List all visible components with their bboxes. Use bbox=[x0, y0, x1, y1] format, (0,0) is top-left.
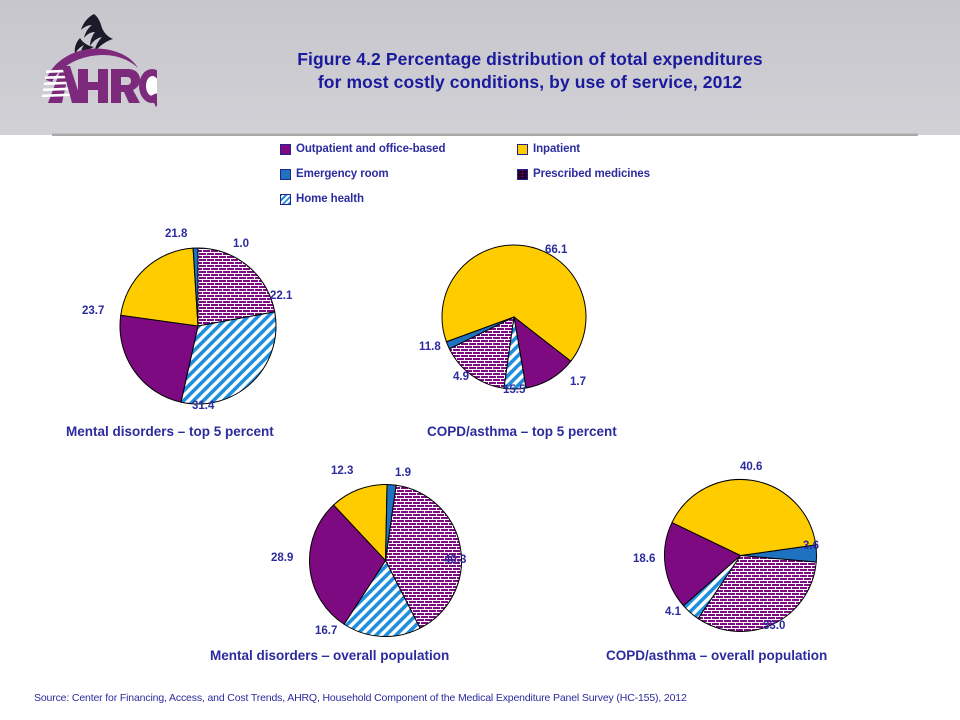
pie-chart-copd-asthma-overall bbox=[663, 478, 818, 633]
pie-0-value-label-2: 23.7 bbox=[82, 305, 104, 317]
pie-2-value-label-4: 1.9 bbox=[395, 467, 411, 479]
legend-label-inpatient: Inpatient bbox=[533, 143, 580, 155]
pie-3-value-label-4: 40.6 bbox=[740, 461, 762, 473]
pie-2-value-label-2: 28.9 bbox=[271, 552, 293, 564]
legend-label-outpatient: Outpatient and office-based bbox=[296, 143, 445, 155]
legend-item-prescribed[interactable]: Prescribed medicines bbox=[517, 168, 650, 180]
page-title: Figure 4.2 Percentage distribution of to… bbox=[180, 48, 880, 95]
pie-0-value-label-0: 22.1 bbox=[270, 290, 292, 302]
slide-background: Figure 4.2 Percentage distribution of to… bbox=[0, 0, 960, 720]
page-title-line-2: for most costly conditions, by use of se… bbox=[180, 71, 880, 94]
pie-0-value-label-1: 31.4 bbox=[192, 400, 214, 412]
pie-chart-copd-asthma-top5 bbox=[440, 243, 588, 391]
legend-item-emergency[interactable]: Emergency room bbox=[280, 168, 389, 180]
pie-1-svg bbox=[440, 243, 588, 391]
legend-label-home_health: Home health bbox=[296, 193, 364, 205]
pie-1-value-label-4: 4.9 bbox=[453, 371, 469, 383]
pie-2-value-label-3: 12.3 bbox=[331, 465, 353, 477]
chart-legend: Outpatient and office-basedInpatientEmer… bbox=[280, 143, 700, 215]
pie-3-value-label-3: 18.6 bbox=[633, 553, 655, 565]
source-note: Source: Center for Financing, Access, an… bbox=[34, 692, 687, 704]
pie-caption-1: COPD/asthma – top 5 percent bbox=[427, 424, 617, 439]
pie-3-value-label-2: 4.1 bbox=[665, 606, 681, 618]
pie-chart-mental-disorders-top5 bbox=[118, 246, 278, 406]
pie-2-value-label-0: 40.3 bbox=[444, 554, 466, 566]
pie-3-value-label-0: 3.6 bbox=[803, 540, 819, 552]
legend-label-prescribed: Prescribed medicines bbox=[533, 168, 650, 180]
pie-2-svg bbox=[308, 483, 463, 638]
pie-1-value-label-3: 11.8 bbox=[419, 341, 441, 353]
pie-0-slice-3[interactable] bbox=[121, 248, 198, 326]
legend-item-home_health[interactable]: Home health bbox=[280, 193, 364, 205]
pie-1-value-label-0: 15.5 bbox=[503, 384, 525, 396]
pie-caption-0: Mental disorders – top 5 percent bbox=[66, 424, 274, 439]
legend-swatch-home_health-icon bbox=[280, 194, 291, 205]
pie-1-value-label-2: 66.1 bbox=[545, 244, 567, 256]
legend-swatch-inpatient-icon bbox=[517, 144, 528, 155]
legend-swatch-outpatient-icon bbox=[280, 144, 291, 155]
legend-label-emergency: Emergency room bbox=[296, 168, 389, 180]
pie-chart-mental-disorders-overall bbox=[308, 483, 463, 638]
header-divider bbox=[52, 133, 918, 136]
pie-2-value-label-1: 16.7 bbox=[315, 625, 337, 637]
pie-caption-3: COPD/asthma – overall population bbox=[606, 648, 827, 663]
pie-3-svg bbox=[663, 478, 818, 633]
pie-caption-2: Mental disorders ‒ overall population bbox=[210, 648, 449, 663]
pie-1-value-label-1: 1.7 bbox=[570, 376, 586, 388]
pie-0-value-label-3: 21.8 bbox=[165, 228, 187, 240]
legend-swatch-emergency-icon bbox=[280, 169, 291, 180]
ahrq-logo-svg bbox=[32, 8, 157, 108]
legend-item-inpatient[interactable]: Inpatient bbox=[517, 143, 580, 155]
legend-item-outpatient[interactable]: Outpatient and office-based bbox=[280, 143, 445, 155]
pie-0-svg bbox=[118, 246, 278, 406]
pie-0-value-label-4: 1.0 bbox=[233, 238, 249, 250]
ahrq-logo bbox=[32, 8, 157, 108]
legend-swatch-prescribed-icon bbox=[517, 169, 528, 180]
pie-3-value-label-1: 33.0 bbox=[763, 620, 785, 632]
page-title-line-1: Figure 4.2 Percentage distribution of to… bbox=[180, 48, 880, 71]
ahrq-wordmark bbox=[42, 66, 157, 107]
